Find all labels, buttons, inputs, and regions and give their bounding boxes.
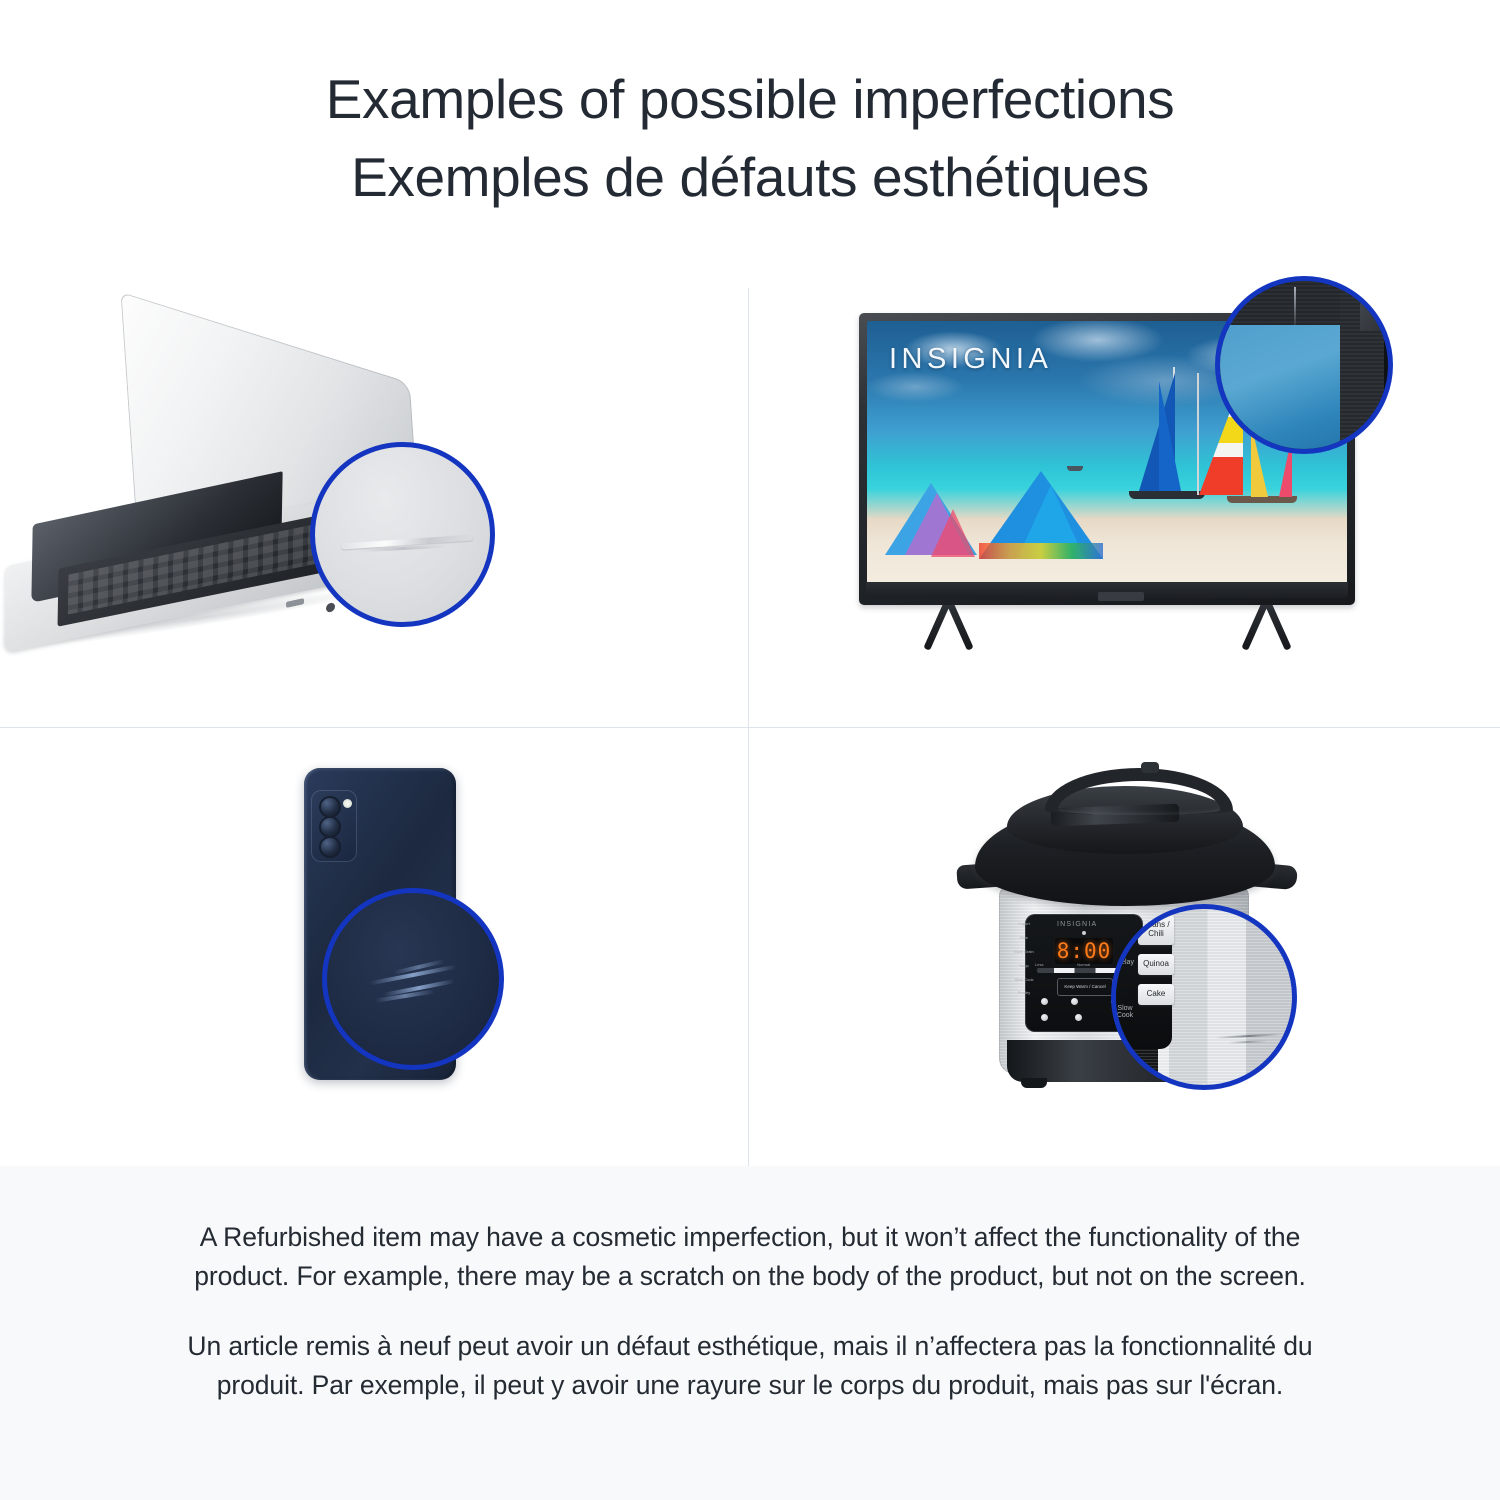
page-title-english: Examples of possible imperfections (326, 62, 1174, 138)
footer-disclaimer: A Refurbished item may have a cosmetic i… (0, 1166, 1500, 1500)
header: Examples of possible imperfections Exemp… (0, 0, 1500, 248)
cooker-zoom-button: Cake (1138, 984, 1174, 1005)
tv-zoom-corner (1360, 285, 1393, 331)
panel-smartphone (0, 728, 748, 1166)
magnifier-circle-laptop (310, 442, 495, 627)
tv-brand-logo: INSIGNIA (889, 343, 1052, 376)
cooker-zoom-left-label: Delay (1112, 959, 1138, 966)
tv-leg (945, 599, 973, 651)
camera-lens-icon (319, 836, 341, 858)
cooker-level-less: Less (1035, 962, 1043, 967)
phone-illustration (254, 768, 514, 1108)
cooker-left-label: Multi Grain (1013, 950, 1035, 954)
cooker-handle (1045, 768, 1233, 815)
cooker-left-label: Yogurt (1013, 922, 1035, 926)
tv-scene-kite-pink (931, 509, 975, 557)
cooker-led-display: 8:00 (1055, 938, 1113, 964)
cooker-display-value: 8:00 (1057, 941, 1112, 962)
camera-flash-icon (343, 799, 352, 808)
tv-scene-hull-2 (1227, 496, 1297, 503)
tv-badge (1098, 592, 1144, 601)
magnifier-circle-tv (1215, 276, 1393, 454)
cooker-level-normal: Normal (1077, 962, 1090, 967)
disclaimer-english: A Refurbished item may have a cosmetic i… (185, 1218, 1315, 1295)
tv-illustration: INSIGNIA (859, 288, 1379, 658)
tv-scene-kite-stripes (979, 543, 1103, 559)
camera-lens-icon (319, 796, 341, 818)
cooker-left-label: Slow Cook (1013, 978, 1035, 982)
tv-leg (1263, 599, 1291, 651)
tv-scene-mast-2 (1197, 373, 1199, 495)
cooker-left-labels: Yogurt Rice Multi Grain Soup Slow Cook P… (1013, 922, 1035, 1005)
cooker-keep-warm-cancel-button[interactable]: Keep Warm / Cancel (1057, 978, 1113, 996)
cooker-zoom-button: Beans / Chili (1138, 915, 1174, 945)
camera-lens-icon (319, 816, 341, 838)
laptop-illustration (10, 348, 530, 648)
cooker-illustration: INSIGNIA 8:00 Less Normal More Keep Warm… (955, 758, 1315, 1128)
cooker-button[interactable] (1075, 1014, 1082, 1021)
refurbished-imperfections-infographic: Examples of possible imperfections Exemp… (0, 0, 1500, 1500)
cooker-brand-logo: INSIGNIA (1057, 921, 1097, 928)
tv-zoom-screen-area (1215, 319, 1344, 454)
panel-pressure-cooker: INSIGNIA 8:00 Less Normal More Keep Warm… (749, 728, 1500, 1166)
cooker-left-label: Soup (1013, 964, 1035, 968)
magnifier-circle-cooker: Delay Slow Cook Beans / Chili Quinoa Cak… (1111, 904, 1297, 1090)
tv-bottom-bezel (866, 582, 1348, 598)
cooker-button[interactable] (1041, 1014, 1048, 1021)
cooker-left-label: Poultry (1013, 991, 1035, 995)
cooker-button[interactable] (1041, 998, 1048, 1005)
cooker-zoom-buttons: Beans / Chili Quinoa Cake (1138, 915, 1174, 1014)
magnifier-circle-phone (322, 888, 504, 1070)
cooker-button[interactable] (1071, 998, 1078, 1005)
tv-scene-sail-blue-2 (1159, 381, 1181, 491)
cooker-indicator-dot (1082, 931, 1086, 935)
cooker-foot (1021, 1078, 1047, 1088)
cooker-zoom-button: Quinoa (1138, 954, 1174, 975)
cooker-zoom-left-label: Slow Cook (1111, 1005, 1140, 1019)
disclaimer-french: Un article remis à neuf peut avoir un dé… (185, 1327, 1315, 1404)
product-grid: INSIGNIA (0, 248, 1500, 1166)
cooker-steam-valve-icon (1141, 762, 1159, 773)
panel-television: INSIGNIA (749, 248, 1500, 727)
tv-scene-hull (1129, 491, 1205, 499)
page-title-french: Exemples de défauts esthétiques (351, 140, 1149, 216)
cooker-left-label: Rice (1013, 936, 1035, 940)
laptop-audio-port (326, 602, 335, 613)
phone-camera-module (311, 790, 357, 862)
panel-laptop (0, 248, 748, 727)
tv-bezel-scuff-mark (1294, 287, 1296, 325)
